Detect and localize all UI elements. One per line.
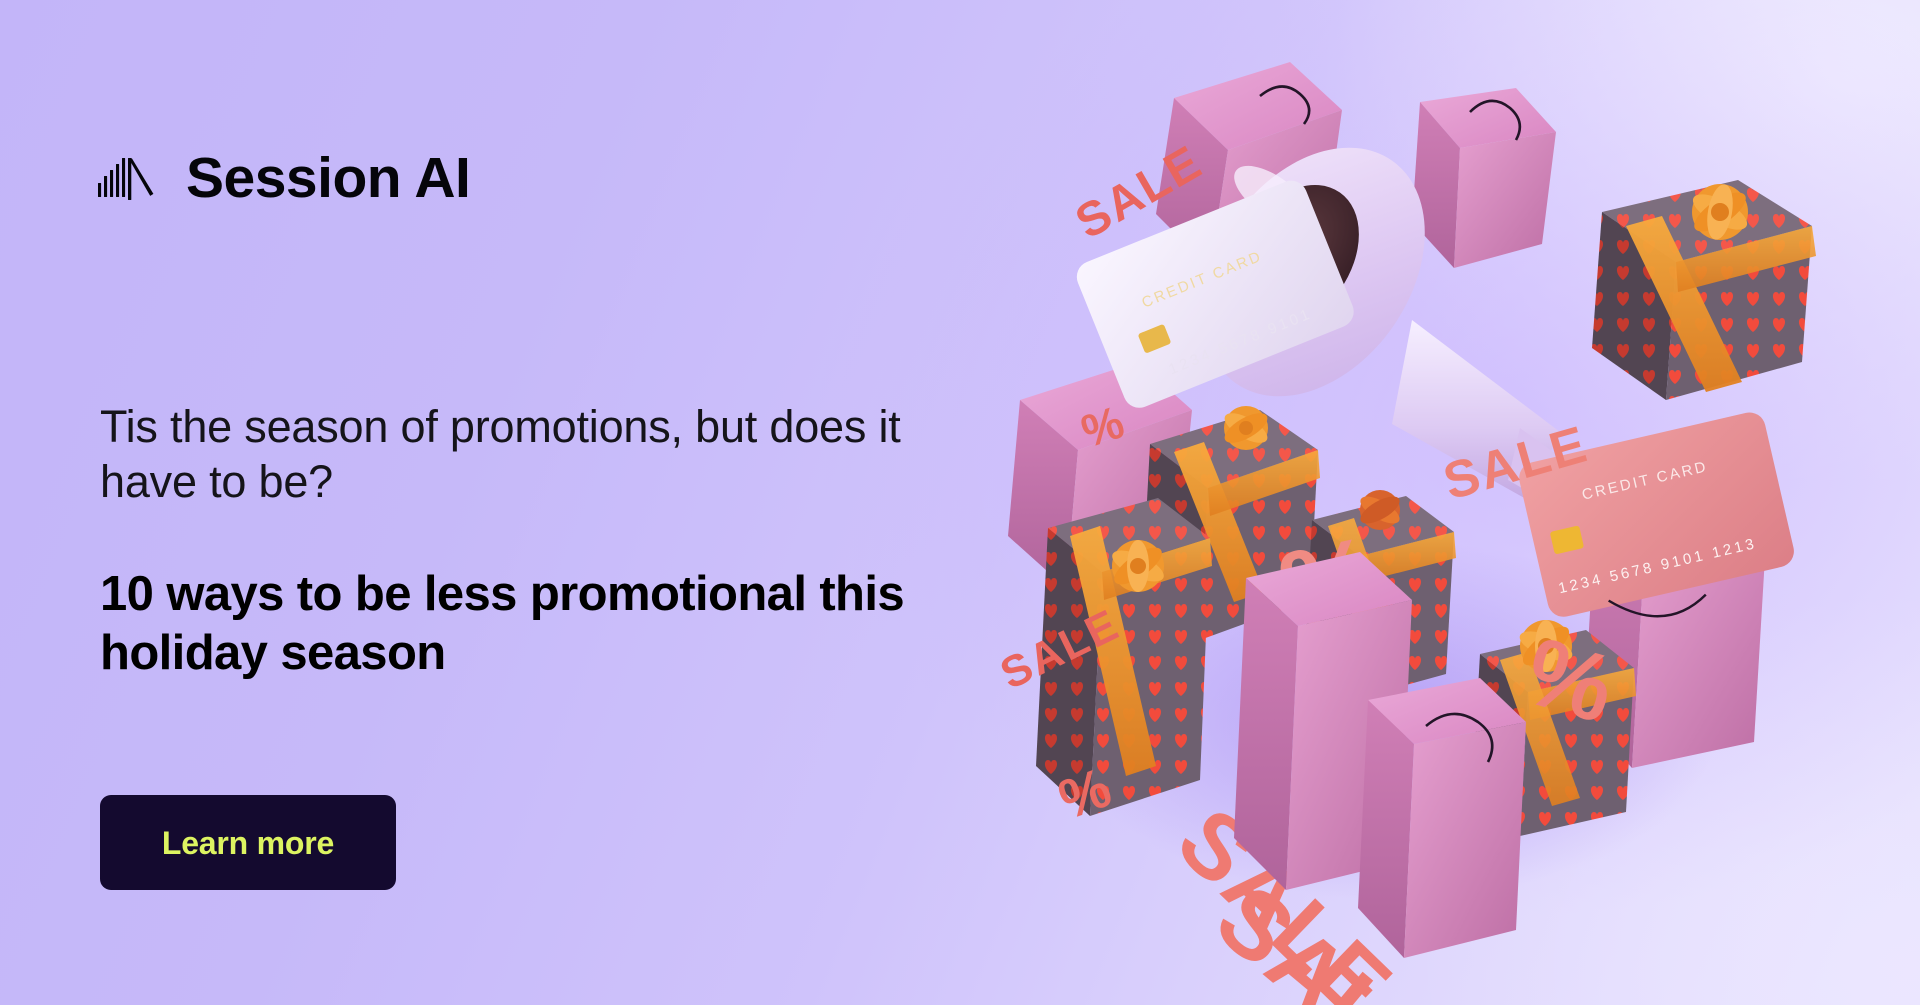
learn-more-button-label: Learn more <box>162 827 334 859</box>
shopping-bag-front-right <box>1358 678 1526 958</box>
shopping-bag-top-right <box>1412 88 1556 268</box>
promo-banner: Session AI Tis the season of promotions,… <box>0 0 1920 1005</box>
content-column: Session AI Tis the season of promotions,… <box>98 0 958 1005</box>
gift-box-top-right <box>1592 180 1816 400</box>
holiday-sale-illustration: CREDIT CARD 1234 5678 9101 CREDIT CARD 1… <box>960 0 1920 1005</box>
eyebrow-text: Tis the season of promotions, but does i… <box>100 400 940 510</box>
page-title: 10 ways to be less promotional this holi… <box>100 565 980 683</box>
learn-more-button[interactable]: Learn more <box>100 795 396 890</box>
session-ai-bars-logo-icon <box>98 155 164 203</box>
brand-name: Session AI <box>186 150 470 207</box>
brand-logo[interactable]: Session AI <box>98 150 470 207</box>
